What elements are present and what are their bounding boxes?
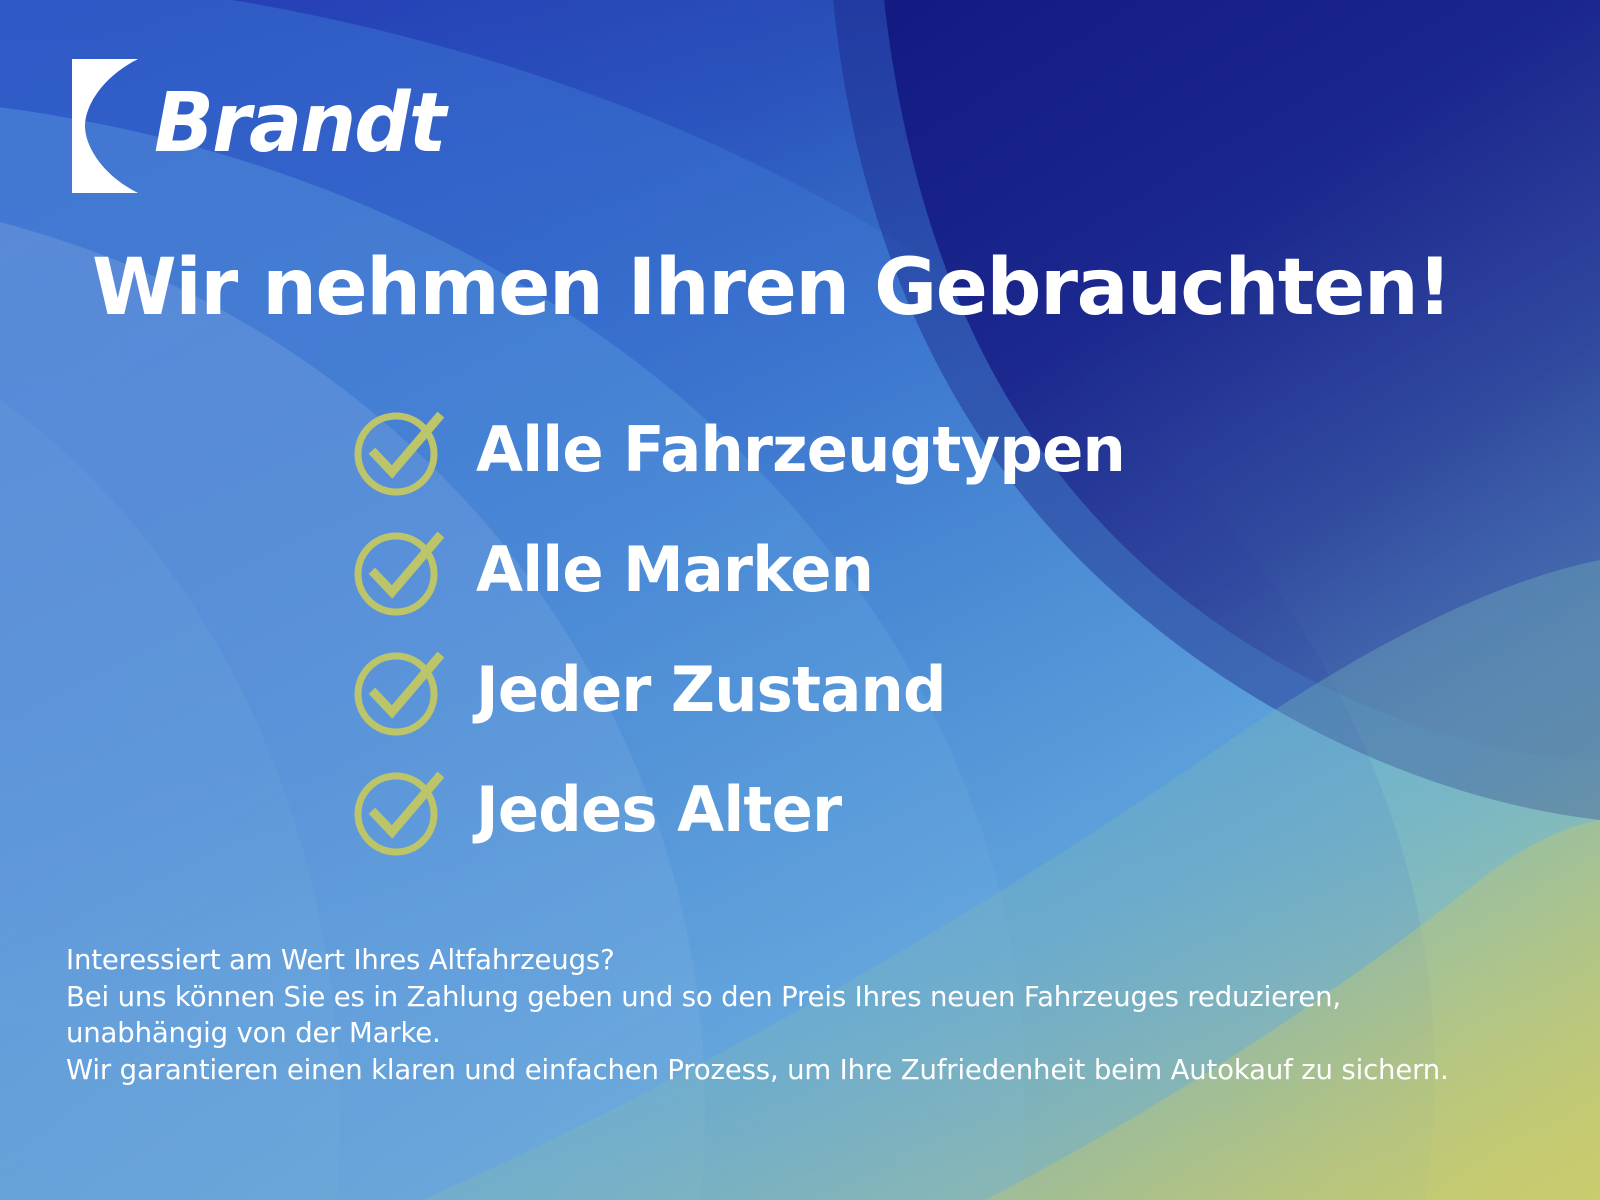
list-item: Alle Marken — [352, 512, 1452, 632]
brandt-bracket-arc-icon — [72, 59, 138, 193]
list-item-label: Jedes Alter — [476, 779, 841, 841]
brand-logo[interactable]: Brandt — [72, 56, 457, 196]
page-title: Wir nehmen Ihren Gebrauchten! — [92, 248, 1501, 330]
benefits-list: Alle Fahrzeugtypen Alle Marken Jeder Zus… — [352, 392, 1452, 872]
footer-line-4: Wir garantieren einen klaren und einfach… — [66, 1052, 1486, 1089]
promo-poster: Brandt Wir nehmen Ihren Gebrauchten! All… — [0, 0, 1600, 1200]
brand-wordmark: Brandt — [154, 83, 444, 165]
check-circle-icon — [352, 766, 444, 858]
list-item: Jedes Alter — [352, 752, 1452, 872]
check-circle-icon — [352, 526, 444, 618]
footer-description: Interessiert am Wert Ihres Altfahrzeugs?… — [66, 942, 1486, 1088]
list-item: Jeder Zustand — [352, 632, 1452, 752]
list-item-label: Alle Fahrzeugtypen — [476, 419, 1125, 481]
check-circle-icon — [352, 646, 444, 738]
footer-line-2: Bei uns können Sie es in Zahlung geben u… — [66, 979, 1486, 1016]
check-circle-icon — [352, 406, 444, 498]
list-item-label: Alle Marken — [476, 539, 873, 601]
list-item-label: Jeder Zustand — [476, 659, 946, 721]
list-item: Alle Fahrzeugtypen — [352, 392, 1452, 512]
footer-line-3: unabhängig von der Marke. — [66, 1015, 1486, 1052]
footer-line-1: Interessiert am Wert Ihres Altfahrzeugs? — [66, 942, 1486, 979]
